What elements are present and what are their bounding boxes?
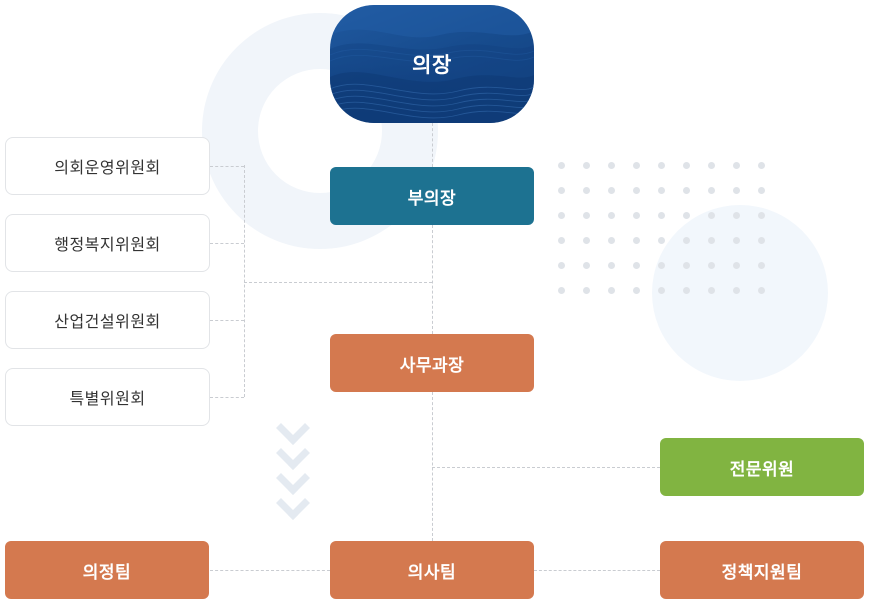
grid-dot xyxy=(658,287,665,294)
grid-dot xyxy=(633,162,640,169)
grid-dot xyxy=(633,187,640,194)
grid-dot xyxy=(683,262,690,269)
grid-dot xyxy=(608,162,615,169)
grid-dot xyxy=(683,287,690,294)
grid-dot xyxy=(558,212,565,219)
node-committee-1-label: 행정복지위원회 xyxy=(54,231,161,255)
grid-dot xyxy=(733,262,740,269)
node-expert-member-label: 전문위원 xyxy=(730,455,795,480)
grid-dot xyxy=(733,162,740,169)
grid-dot xyxy=(683,187,690,194)
grid-dot xyxy=(708,287,715,294)
node-vice-chairman[interactable]: 부의장 xyxy=(330,167,534,225)
grid-dot xyxy=(758,187,765,194)
grid-dot xyxy=(633,212,640,219)
grid-dot xyxy=(583,187,590,194)
grid-dot xyxy=(658,187,665,194)
grid-dot xyxy=(558,237,565,244)
grid-dot xyxy=(683,237,690,244)
connector-committee-branch-0 xyxy=(210,166,244,167)
chevron-down-icon xyxy=(279,466,307,480)
connector-main-to-expert xyxy=(432,467,660,468)
grid-dot xyxy=(658,237,665,244)
node-committee-0-label: 의회운영위원회 xyxy=(54,154,161,178)
dot-grid-row xyxy=(558,237,783,262)
node-committee-1[interactable]: 행정복지위원회 xyxy=(5,214,210,272)
dot-grid-row xyxy=(558,212,783,237)
grid-dot xyxy=(758,212,765,219)
grid-dot xyxy=(558,262,565,269)
grid-dot xyxy=(758,287,765,294)
node-committee-2[interactable]: 산업건설위원회 xyxy=(5,291,210,349)
grid-dot xyxy=(583,262,590,269)
grid-dot xyxy=(633,287,640,294)
grid-dot xyxy=(758,262,765,269)
dot-grid-row xyxy=(558,187,783,212)
node-committee-3[interactable]: 특별위원회 xyxy=(5,368,210,426)
connector-committee-branch-1 xyxy=(210,243,244,244)
grid-dot xyxy=(733,212,740,219)
node-committee-0[interactable]: 의회운영위원회 xyxy=(5,137,210,195)
grid-dot xyxy=(683,212,690,219)
grid-dot xyxy=(583,237,590,244)
node-office-director-label: 사무과장 xyxy=(400,351,465,376)
connector-committee-trunk xyxy=(244,165,245,397)
grid-dot xyxy=(683,162,690,169)
grid-dot xyxy=(733,287,740,294)
node-vice-chairman-label: 부의장 xyxy=(408,184,456,209)
grid-dot xyxy=(733,187,740,194)
grid-dot xyxy=(583,162,590,169)
node-office-director[interactable]: 사무과장 xyxy=(330,334,534,392)
node-team-1[interactable]: 의사팀 xyxy=(330,541,534,599)
connector-committee-branch-3 xyxy=(210,397,244,398)
grid-dot xyxy=(583,212,590,219)
dot-grid-row xyxy=(558,162,783,187)
dot-grid-row xyxy=(558,262,783,287)
chevron-arrows-group xyxy=(279,416,307,516)
chevron-down-icon xyxy=(279,441,307,455)
connector-committee-to-main xyxy=(244,282,432,283)
dot-grid-decoration xyxy=(558,162,783,312)
grid-dot xyxy=(658,262,665,269)
grid-dot xyxy=(733,237,740,244)
node-team-1-label: 의사팀 xyxy=(408,558,456,583)
grid-dot xyxy=(708,262,715,269)
dot-grid-row xyxy=(558,287,783,312)
org-chart: 의장 부의장 사무과장 전문위원 의회운영위원회 행정복지위원회 산업건설위원회… xyxy=(0,0,871,610)
grid-dot xyxy=(583,287,590,294)
grid-dot xyxy=(708,237,715,244)
grid-dot xyxy=(608,287,615,294)
grid-dot xyxy=(608,212,615,219)
grid-dot xyxy=(708,162,715,169)
connector-committee-branch-2 xyxy=(210,320,244,321)
node-committee-2-label: 산업건설위원회 xyxy=(54,308,161,332)
node-team-0[interactable]: 의정팀 xyxy=(5,541,209,599)
node-committee-3-label: 특별위원회 xyxy=(69,385,145,409)
grid-dot xyxy=(633,262,640,269)
node-team-2-label: 정책지원팀 xyxy=(722,558,803,583)
grid-dot xyxy=(558,187,565,194)
node-team-2[interactable]: 정책지원팀 xyxy=(660,541,864,599)
chevron-down-icon xyxy=(279,491,307,505)
connector-vice-to-office xyxy=(432,225,433,334)
grid-dot xyxy=(758,237,765,244)
grid-dot xyxy=(608,262,615,269)
chevron-down-icon xyxy=(279,416,307,430)
grid-dot xyxy=(558,287,565,294)
node-chairman-label: 의장 xyxy=(412,49,452,79)
grid-dot xyxy=(708,212,715,219)
grid-dot xyxy=(558,162,565,169)
node-chairman[interactable]: 의장 xyxy=(330,5,534,123)
grid-dot xyxy=(758,162,765,169)
grid-dot xyxy=(708,187,715,194)
grid-dot xyxy=(608,187,615,194)
grid-dot xyxy=(658,162,665,169)
grid-dot xyxy=(608,237,615,244)
node-team-0-label: 의정팀 xyxy=(83,558,131,583)
grid-dot xyxy=(633,237,640,244)
connector-team-0-to-team-1 xyxy=(210,570,330,571)
grid-dot xyxy=(658,212,665,219)
node-expert-member[interactable]: 전문위원 xyxy=(660,438,864,496)
connector-chairman-to-vice xyxy=(432,123,433,167)
connector-team-1-to-team-2 xyxy=(534,570,660,571)
